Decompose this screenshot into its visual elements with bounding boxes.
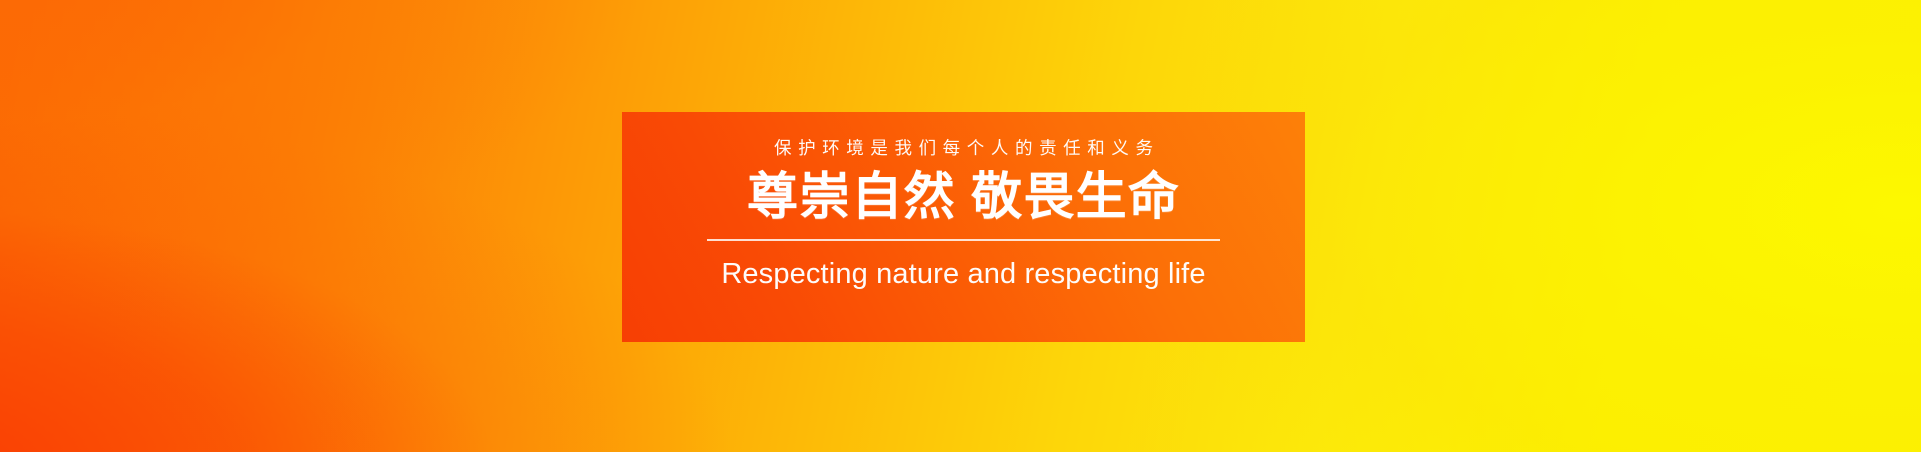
slogan-card-content: 保护环境是我们每个人的责任和义务 尊崇自然 敬畏生命 Respecting na… bbox=[622, 112, 1305, 342]
headline-divider bbox=[707, 239, 1220, 241]
slogan-card: 保护环境是我们每个人的责任和义务 尊崇自然 敬畏生命 Respecting na… bbox=[622, 112, 1305, 342]
banner-headline: 尊崇自然 敬畏生命 bbox=[747, 168, 1180, 225]
banner-canvas: 保护环境是我们每个人的责任和义务 尊崇自然 敬畏生命 Respecting na… bbox=[0, 0, 1921, 452]
banner-subtitle: Respecting nature and respecting life bbox=[721, 257, 1205, 292]
banner-tagline: 保护环境是我们每个人的责任和义务 bbox=[767, 138, 1159, 159]
